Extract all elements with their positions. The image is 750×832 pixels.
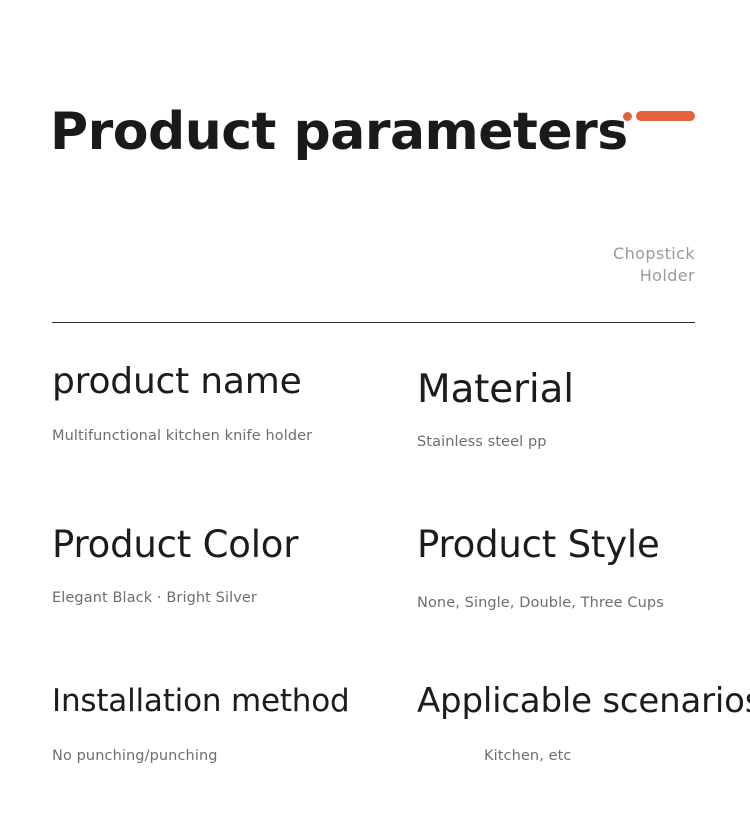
product-parameters-page: Product parameters Chopstick Holder prod… bbox=[0, 0, 750, 830]
spec-label: Material bbox=[417, 352, 750, 412]
category-line-1: Chopstick bbox=[475, 243, 695, 265]
spec-label: product name bbox=[52, 352, 412, 402]
spec-item-applicable-scenarios: Applicable scenarios Kitchen, etc bbox=[417, 672, 750, 764]
spec-grid: product name Multifunctional kitchen kni… bbox=[0, 352, 750, 832]
spec-row: product name Multifunctional kitchen kni… bbox=[0, 352, 750, 512]
header-accent-decoration bbox=[623, 111, 695, 122]
spec-value: Stainless steel pp bbox=[417, 412, 750, 450]
category-line-2: Holder bbox=[475, 265, 695, 287]
spec-value: None, Single, Double, Three Cups bbox=[417, 565, 750, 611]
orange-bar-icon bbox=[636, 111, 695, 121]
page-title: Product parameters bbox=[50, 104, 628, 161]
spec-label: Product Style bbox=[417, 512, 750, 565]
header-divider bbox=[52, 322, 695, 323]
spec-value: No punching/punching bbox=[52, 719, 412, 764]
page-header: Product parameters bbox=[0, 0, 750, 200]
spec-item-installation-method: Installation method No punching/punching bbox=[52, 672, 412, 764]
spec-value: Elegant Black · Bright Silver bbox=[52, 565, 412, 606]
orange-dot-icon bbox=[623, 112, 632, 121]
spec-row: Product Color Elegant Black · Bright Sil… bbox=[0, 512, 750, 672]
spec-label: Applicable scenarios bbox=[417, 672, 750, 720]
spec-label: Product Color bbox=[52, 512, 412, 565]
spec-item-product-style: Product Style None, Single, Double, Thre… bbox=[417, 512, 750, 611]
spec-value: Kitchen, etc bbox=[417, 720, 750, 764]
spec-item-material: Material Stainless steel pp bbox=[417, 352, 750, 450]
spec-row: Installation method No punching/punching… bbox=[0, 672, 750, 832]
spec-item-product-name: product name Multifunctional kitchen kni… bbox=[52, 352, 412, 444]
spec-value: Multifunctional kitchen knife holder bbox=[52, 402, 412, 444]
product-category-label: Chopstick Holder bbox=[475, 243, 695, 286]
spec-label: Installation method bbox=[52, 672, 412, 719]
spec-item-product-color: Product Color Elegant Black · Bright Sil… bbox=[52, 512, 412, 606]
